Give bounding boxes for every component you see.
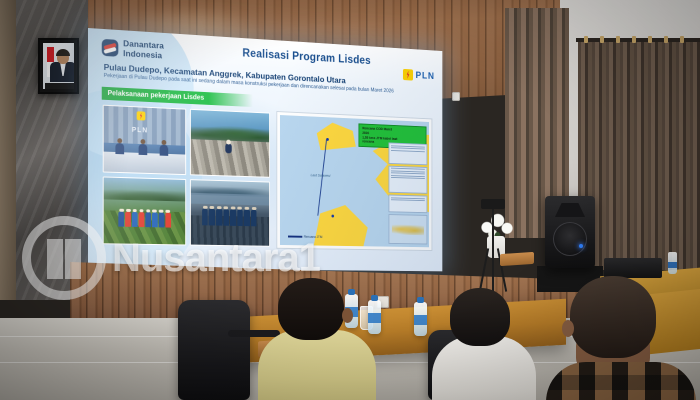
projection-screen: Danantara Indonesia Realisasi Program Li… [88,28,442,271]
pa-speaker [545,196,595,268]
section-banner-label: Pelaksanaan pekerjaan Lisdes [108,90,205,102]
wooden-block [500,252,534,266]
water-bottle [668,252,677,274]
pln-wall-text: PLN [132,127,148,135]
map-legend-box-3 [388,195,427,213]
danantara-logo-icon [102,39,119,57]
photo-field-crew [103,176,186,245]
room-photo-scene: Danantara Indonesia Realisasi Program Li… [0,0,700,400]
office-chair [178,300,250,400]
speaker-power-led [579,244,583,248]
map-legend-line: Rencana JTM [288,235,323,239]
slide-title: Realisasi Program Lisdes [203,45,407,69]
map-panel: Laut Sulawesi Rencana COD Maret 2026 1,5… [276,111,432,251]
map-canvas: Laut Sulawesi Rencana COD Maret 2026 1,5… [280,115,429,247]
map-sea-label: Laut Sulawesi [311,173,331,177]
photo-shoreline-survey [190,179,270,247]
attendee-white-shirt [440,288,540,400]
photo-grid: PLN [103,105,270,247]
map-legend-box-1 [388,143,427,165]
pln-lightning-icon [403,69,413,81]
brand-lockup: Danantara Indonesia [102,38,164,61]
attendee-yellow-shirt [258,278,378,400]
photo-access-road [190,109,270,178]
pln-lightning-icon [137,111,146,120]
framed-portrait [38,38,79,94]
map-land-north [317,122,356,152]
pillar-edge [0,0,16,300]
map-land-south [314,204,368,246]
photo-meeting-room: PLN [103,105,186,175]
map-inset-locator [388,214,427,244]
map-legend-label: Rencana JTM [304,235,323,239]
pln-logo-lockup: PLN [403,69,435,82]
curtain-panel-right [578,40,700,270]
water-bottle [414,302,427,336]
equipment-case [604,258,662,278]
presentation-slide: Danantara Indonesia Realisasi Program Li… [88,28,442,271]
pln-wordmark: PLN [416,70,435,81]
attendee-plaid-shirt [556,276,700,400]
camera-tripod [492,208,494,282]
wall-outlet [452,92,460,101]
map-legend-box-2 [388,166,427,194]
